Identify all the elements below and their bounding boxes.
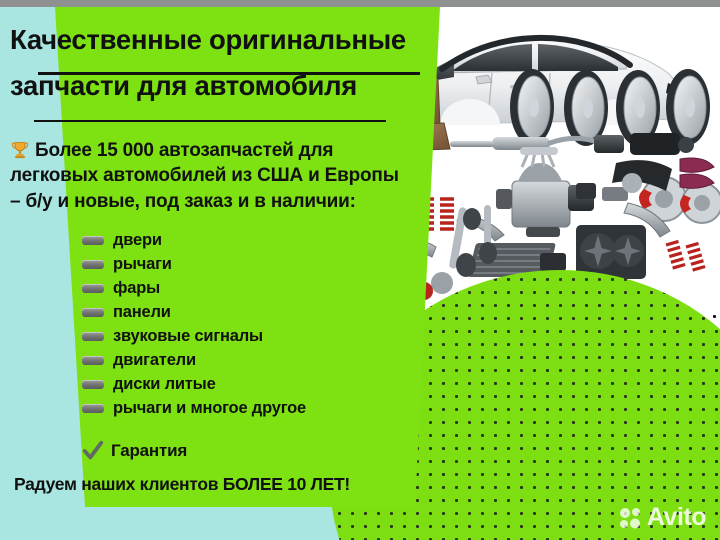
content-layer: Качественные оригинальные запчасти для а… [0, 0, 460, 540]
avito-wordmark: Avito [647, 503, 706, 532]
subheadline: Более 15 000 автозапчастей для легковых … [10, 138, 430, 214]
list-item: рычаги [82, 252, 412, 276]
dash-bullet-icon [82, 332, 104, 341]
dash-bullet-icon [82, 356, 104, 365]
list-item-label: двигатели [113, 351, 196, 370]
list-item: двигатели [82, 348, 412, 372]
avito-logo-icon [619, 507, 643, 529]
list-item-label: панели [113, 303, 171, 322]
check-mark-icon [82, 440, 104, 462]
guarantee-row: Гарантия [82, 440, 187, 462]
headline-rule-1 [38, 72, 420, 75]
dash-bullet-icon [82, 404, 104, 413]
list-item-label: диски литые [113, 375, 216, 394]
subheadline-line-3: – б/у и новые, под заказ и в наличии: [10, 189, 430, 214]
trophy-icon [10, 140, 30, 160]
list-item-label: звуковые сигналы [113, 327, 263, 346]
subheadline-line-2: легковых автомобилей из США и Европы [10, 163, 430, 188]
dash-bullet-icon [82, 308, 104, 317]
avito-watermark: Avito [619, 503, 706, 532]
list-item: двери [82, 228, 412, 252]
list-item-label: рычаги и многое другое [113, 399, 306, 418]
dash-bullet-icon [82, 260, 104, 269]
list-item: диски литые [82, 372, 412, 396]
advertisement-banner: Качественные оригинальные запчасти для а… [0, 0, 720, 540]
list-item-label: рычаги [113, 255, 172, 274]
dash-bullet-icon [82, 284, 104, 293]
list-item-label: двери [113, 231, 162, 250]
list-item: звуковые сигналы [82, 324, 412, 348]
headline-rule-2 [34, 120, 386, 122]
subheadline-line-1: Более 15 000 автозапчастей для [35, 140, 333, 161]
headline-line-2: запчасти для автомобиля [10, 72, 430, 100]
list-item: фары [82, 276, 412, 300]
dash-bullet-icon [82, 236, 104, 245]
headline-line-1: Качественные оригинальные [10, 26, 430, 54]
footer-text: Радуем наших клиентов БОЛЕЕ 10 ЛЕТ! [14, 474, 350, 495]
list-item-label: фары [113, 279, 160, 298]
dash-bullet-icon [82, 380, 104, 389]
page-title: Качественные оригинальные запчасти для а… [10, 26, 430, 100]
list-item: рычаги и многое другое [82, 396, 412, 420]
list-item: панели [82, 300, 412, 324]
top-border-strip [0, 0, 720, 7]
subheadline-line-1-wrap: Более 15 000 автозапчастей для [10, 138, 430, 163]
guarantee-label: Гарантия [111, 441, 187, 461]
parts-list: двери рычаги фары панели звуковые сигнал… [82, 228, 412, 420]
